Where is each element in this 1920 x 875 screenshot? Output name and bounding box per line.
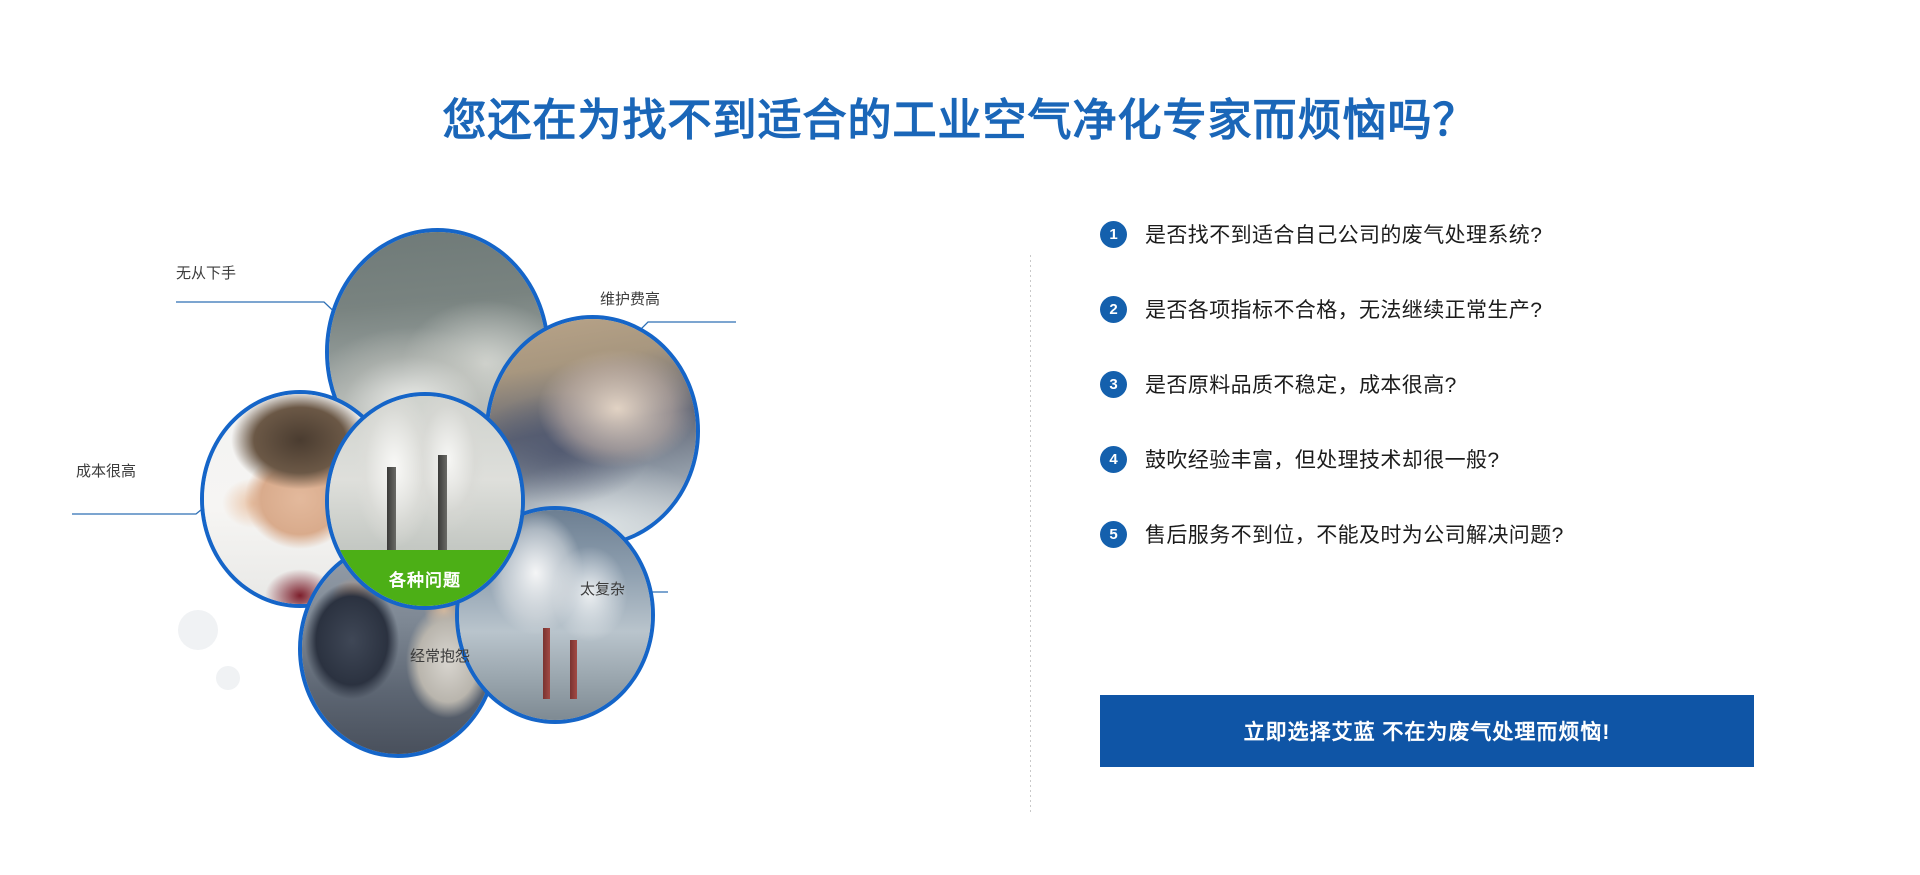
list-item: 5 售后服务不到位，不能及时为公司解决问题? [1100, 515, 1860, 553]
promo-banner: 您还在为找不到适合的工业空气净化专家而烦恼吗？ [0, 0, 1920, 875]
list-item: 4 鼓吹经验丰富，但处理技术却很一般? [1100, 440, 1860, 478]
callout-label-complaints: 经常抱怨 [410, 645, 470, 666]
cta-button[interactable]: 立即选择艾蓝 不在为废气处理而烦恼! [1100, 695, 1754, 767]
list-item: 2 是否各项指标不合格，无法继续正常生产? [1100, 290, 1860, 328]
question-text: 鼓吹经验丰富，但处理技术却很一般? [1145, 444, 1499, 474]
list-item: 1 是否找不到适合自己公司的废气处理系统? [1100, 215, 1860, 253]
callout-label-high-cost: 成本很高 [76, 460, 136, 481]
center-label-band: 各种问题 [329, 550, 521, 606]
cta-button-label: 立即选择艾蓝 不在为废气处理而烦恼! [1244, 716, 1611, 746]
smokestack-shape [387, 467, 396, 551]
callout-label-complex: 太复杂 [580, 578, 625, 599]
questions-list: 1 是否找不到适合自己公司的废气处理系统? 2 是否各项指标不合格，无法继续正常… [1100, 215, 1860, 590]
bubble-center-smokestacks: 各种问题 [325, 392, 525, 610]
callout-label-maintenance: 维护费高 [600, 288, 660, 309]
number-badge: 2 [1100, 296, 1127, 323]
page-title-wrapper: 您还在为找不到适合的工业空气净化专家而烦恼吗？ [0, 84, 1920, 148]
questions-panel: 1 是否找不到适合自己公司的废气处理系统? 2 是否各项指标不合格，无法继续正常… [1100, 215, 1860, 855]
question-text: 售后服务不到位，不能及时为公司解决问题? [1145, 519, 1564, 549]
smokestack-shape [570, 640, 577, 699]
page-title: 您还在为找不到适合的工业空气净化专家而烦恼吗？ [443, 84, 1478, 148]
center-label-text: 各种问题 [389, 566, 461, 591]
decorative-circle [216, 666, 240, 690]
bubble-cluster: 各种问题 无从下手 成本很高 维护费高 太复杂 经常抱怨 [30, 210, 820, 830]
question-text: 是否原料品质不稳定，成本很高? [1145, 369, 1457, 399]
question-text: 是否找不到适合自己公司的废气处理系统? [1145, 219, 1542, 249]
infographic-panel: 各种问题 无从下手 成本很高 维护费高 太复杂 经常抱怨 [30, 210, 820, 850]
number-badge: 4 [1100, 446, 1127, 473]
decorative-circle [178, 610, 218, 650]
number-badge: 3 [1100, 371, 1127, 398]
number-badge: 1 [1100, 221, 1127, 248]
smokestack-shape [438, 455, 447, 552]
number-badge: 5 [1100, 521, 1127, 548]
smokestack-shape [543, 628, 550, 699]
callout-label-no-start: 无从下手 [176, 262, 236, 283]
list-item: 3 是否原料品质不稳定，成本很高? [1100, 365, 1860, 403]
question-text: 是否各项指标不合格，无法继续正常生产? [1145, 294, 1542, 324]
vertical-divider [1030, 255, 1031, 815]
